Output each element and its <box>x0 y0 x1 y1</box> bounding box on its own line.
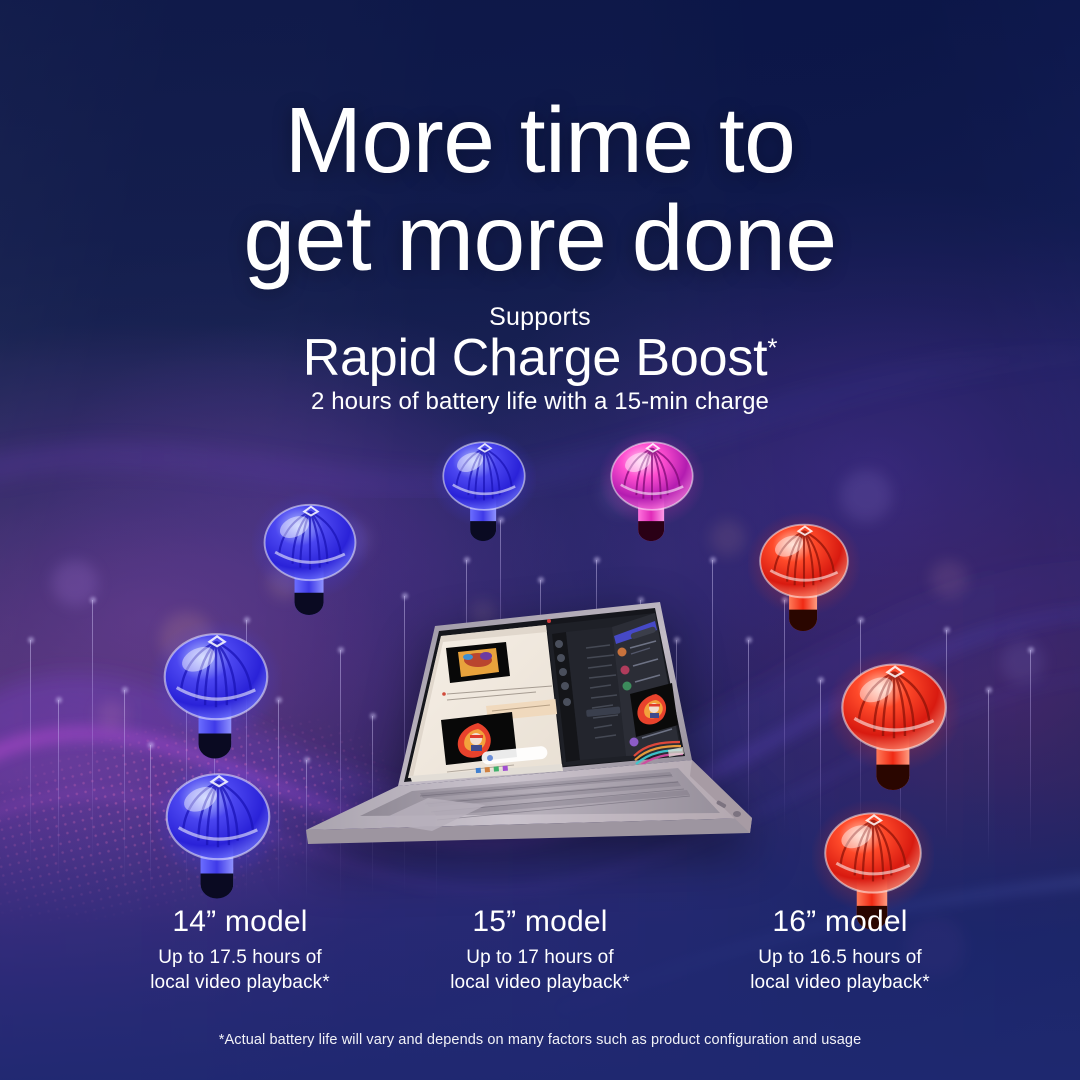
legal-footnote: *Actual battery life will vary and depen… <box>0 1032 1080 1048</box>
product-feature-text: Rapid Charge Boost <box>303 329 768 387</box>
model-title-16: 16” model <box>690 905 990 939</box>
product-asterisk: * <box>767 333 777 363</box>
model-playback-14: local video playback* <box>90 970 390 995</box>
model-hours-15: Up to 17 hours of <box>390 945 690 970</box>
model-hours-14: Up to 17.5 hours of <box>90 945 390 970</box>
product-feature-name: Rapid Charge Boost* <box>0 328 1080 388</box>
headline-line-1: More time to <box>0 92 1080 190</box>
model-playback-15: local video playback* <box>390 970 690 995</box>
model-column-15: 15” model Up to 17 hours of local video … <box>390 905 690 995</box>
model-comparison-row: 14” model Up to 17.5 hours of local vide… <box>90 905 990 995</box>
mushroom-battery-magenta-1 <box>600 430 704 575</box>
page-headline: More time to get more done <box>0 92 1080 287</box>
model-title-14: 14” model <box>90 905 390 939</box>
charge-claim: 2 hours of battery life with a 15-min ch… <box>0 388 1080 416</box>
headline-line-2: get more done <box>0 190 1080 288</box>
model-title-15: 15” model <box>390 905 690 939</box>
model-column-14: 14” model Up to 17.5 hours of local vide… <box>90 905 390 995</box>
model-column-16: 16” model Up to 16.5 hours of local vide… <box>690 905 990 995</box>
laptop-device <box>300 590 770 890</box>
mushroom-battery-blue-4 <box>432 430 536 575</box>
marketing-banner: More time to get more done Supports Rapi… <box>0 0 1080 1080</box>
model-hours-16: Up to 16.5 hours of <box>690 945 990 970</box>
model-playback-16: local video playback* <box>690 970 990 995</box>
